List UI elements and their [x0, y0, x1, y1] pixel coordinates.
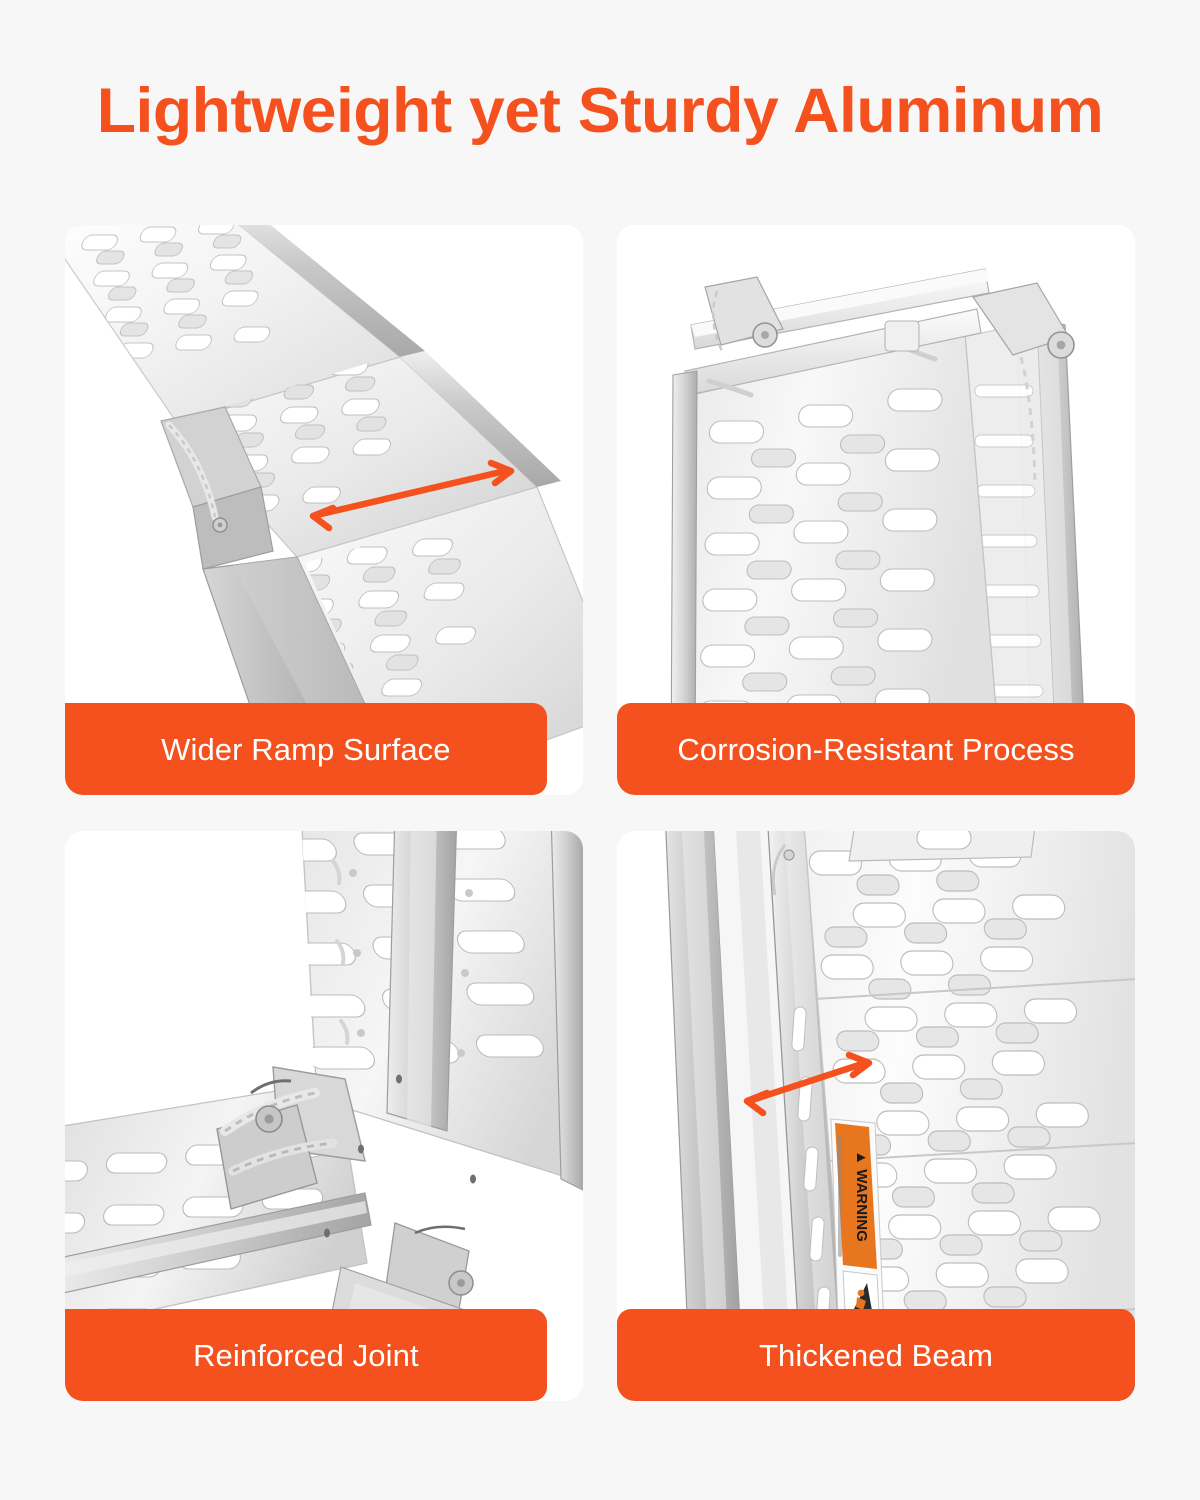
feature-caption: Wider Ramp Surface	[65, 703, 547, 795]
warning-decal-label: ▲ WARNING	[853, 1150, 870, 1242]
infographic-page: Lightweight yet Sturdy Aluminum	[0, 0, 1200, 1500]
feature-card-corrosion-resistant-process[interactable]: Corrosion-Resistant Process	[617, 225, 1135, 795]
feature-card-reinforced-joint[interactable]: Reinforced Joint	[65, 831, 583, 1401]
feature-caption: Corrosion-Resistant Process	[617, 703, 1135, 795]
feature-grid: Wider Ramp Surface	[65, 225, 1135, 1405]
feature-caption: Thickened Beam	[617, 1309, 1135, 1401]
feature-card-thickened-beam[interactable]: ▲ WARNING	[617, 831, 1135, 1401]
feature-card-wider-ramp-surface[interactable]: Wider Ramp Surface	[65, 225, 583, 795]
page-title: Lightweight yet Sturdy Aluminum	[0, 78, 1200, 144]
feature-caption: Reinforced Joint	[65, 1309, 547, 1401]
